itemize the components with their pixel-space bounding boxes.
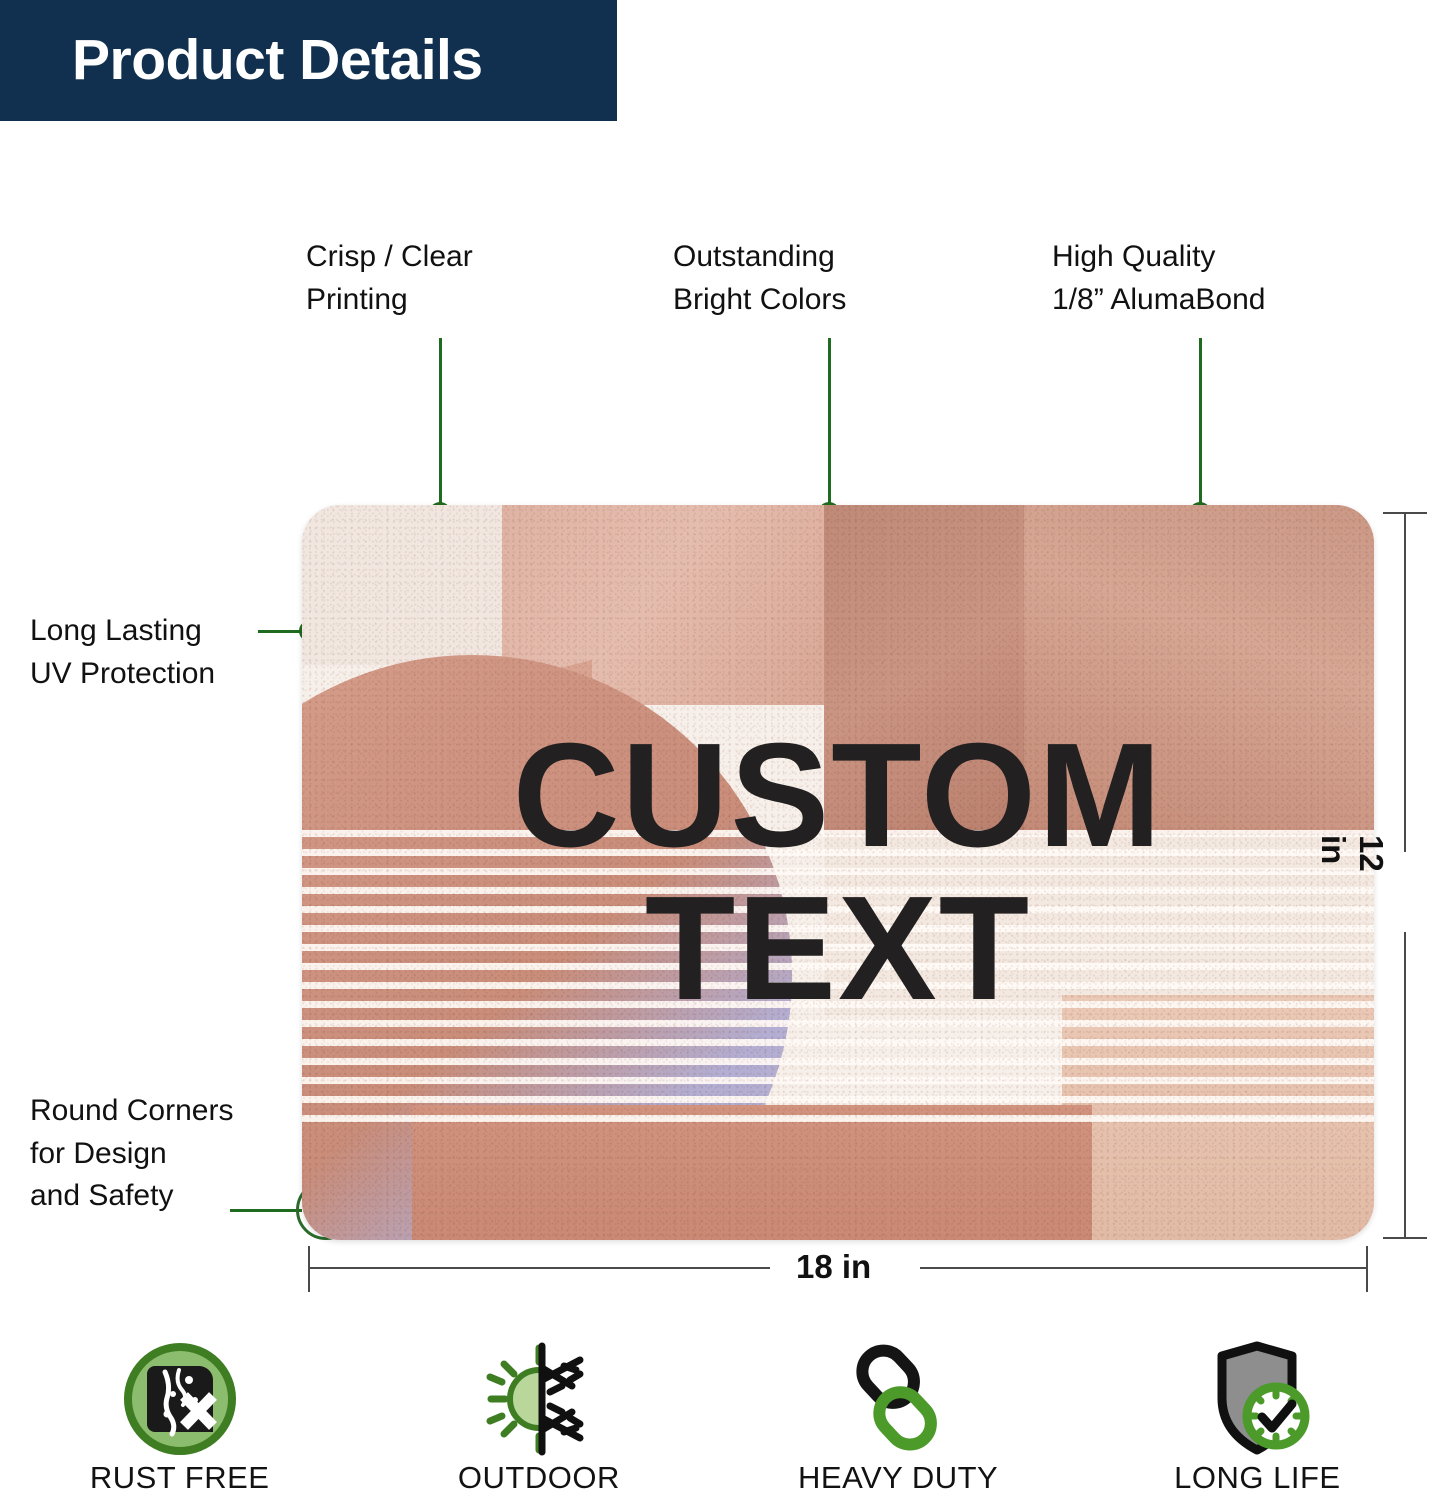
leader-line-long-lasting-uv-protection	[258, 630, 304, 633]
dim-line-width-right	[920, 1267, 1368, 1269]
feature-label-rust-free: RUST FREE	[90, 1460, 270, 1496]
sign-text-line-2: TEXT	[645, 873, 1031, 1025]
feature-icon-row: RUST FREE	[0, 1340, 1437, 1500]
feature-label-long-life: LONG LIFE	[1174, 1460, 1340, 1496]
dim-line-height-lower	[1404, 932, 1406, 1238]
dim-cap-height-bottom	[1383, 1237, 1427, 1239]
callout-outstanding-bright-colors: Outstanding Bright Colors	[673, 236, 846, 321]
custom-sign-preview[interactable]: CUSTOM TEXT	[302, 505, 1374, 1240]
feature-long-life: LONG LIFE	[1078, 1340, 1437, 1496]
dim-line-height-upper	[1404, 512, 1406, 852]
callout-round-corners: Round Corners for Design and Safety	[30, 1090, 233, 1218]
page-title: Product Details	[72, 32, 483, 89]
leader-line-crisp-clear-printing	[439, 338, 442, 506]
dim-label-height: 12 in	[1314, 835, 1390, 882]
callout-high-quality-alumabond: High Quality 1/8” AlumaBond	[1052, 236, 1265, 321]
sun-snowflake-icon	[480, 1340, 598, 1458]
sign-text-line-1: CUSTOM	[513, 720, 1164, 872]
product-details-banner: Product Details	[0, 0, 617, 121]
feature-label-heavy-duty: HEAVY DUTY	[798, 1460, 998, 1496]
sign-custom-text: CUSTOM TEXT	[302, 505, 1374, 1240]
dim-cap-width-right	[1366, 1246, 1368, 1292]
dim-cap-width-left	[308, 1246, 310, 1292]
feature-outdoor: OUTDOOR	[359, 1340, 718, 1496]
feature-heavy-duty: HEAVY DUTY	[719, 1340, 1078, 1496]
feature-rust-free: RUST FREE	[0, 1340, 359, 1496]
dim-line-width-left	[308, 1267, 770, 1269]
leader-line-outstanding-bright-colors	[828, 338, 831, 506]
rust-free-icon	[121, 1340, 239, 1458]
callout-crisp-clear-printing: Crisp / Clear Printing	[306, 236, 473, 321]
shield-clock-icon	[1198, 1340, 1316, 1458]
leader-line-round-corners	[230, 1209, 302, 1212]
dim-label-width: 18 in	[796, 1248, 871, 1286]
leader-line-high-quality-alumabond	[1199, 338, 1202, 506]
chain-link-icon	[839, 1340, 957, 1458]
feature-label-outdoor: OUTDOOR	[458, 1460, 620, 1496]
callout-long-lasting-uv-protection: Long Lasting UV Protection	[30, 610, 215, 695]
